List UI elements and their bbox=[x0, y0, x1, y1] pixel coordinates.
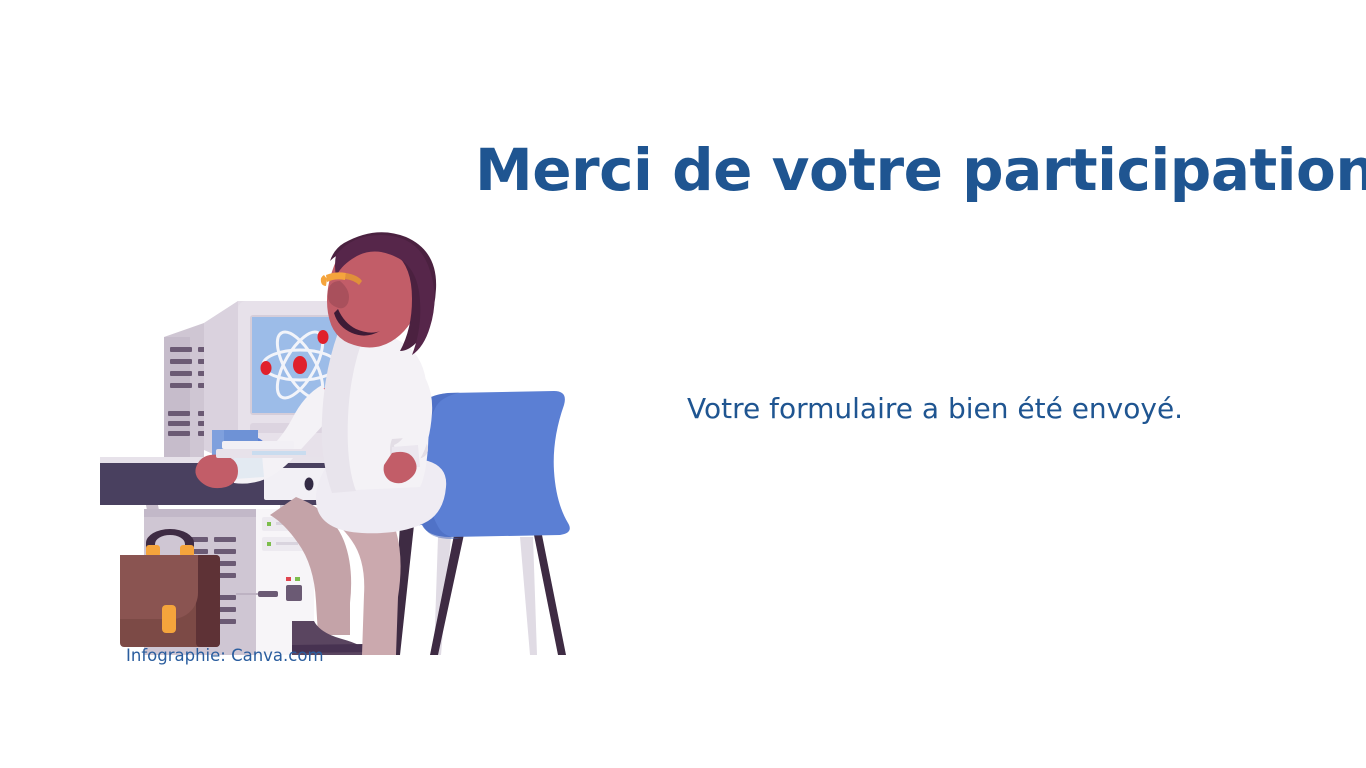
scientist-illustration bbox=[100, 225, 660, 655]
scientist-illustration-svg bbox=[100, 225, 660, 655]
page-title: Merci de votre participation bbox=[475, 140, 1315, 201]
slide-canvas: Merci de votre participation Votre formu… bbox=[0, 0, 1366, 768]
confirmation-message: Votre formulaire a bien été envoyé. bbox=[687, 392, 1183, 426]
desk-papers bbox=[216, 441, 306, 458]
illustration-credit: Infographie: Canva.com bbox=[126, 646, 324, 665]
